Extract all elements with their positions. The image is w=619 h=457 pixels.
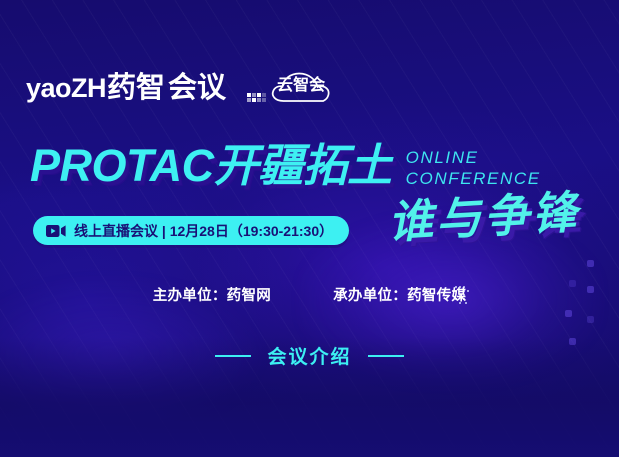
cloud-logo-label: 云智会 [277, 78, 325, 94]
heading-rule-right [368, 355, 404, 357]
section-heading-label: 会议介绍 [267, 342, 351, 369]
subtitle-line-2: CONFERENCE [406, 169, 541, 190]
live-session-badge[interactable]: 线上直播会议 | 12月28日（19:30-21:30） [33, 216, 349, 245]
yaozh-logo: yaoZH 药智 会议 [26, 74, 226, 103]
page-title: PROTAC开疆拓土 [30, 143, 392, 189]
conference-banner: yaoZH 药智 会议 云智会 PROTAC开疆拓土 ONLINE CONFER… [0, 0, 619, 457]
yunzhihui-logo: 云智会 [245, 67, 341, 109]
logo-suffix-text: 会议 [168, 74, 226, 103]
video-camera-icon [46, 224, 66, 238]
organizer-row: 主办单位：药智网 承办单位：药智传媒 [0, 284, 619, 305]
hero-subtitle-english: ONLINE CONFERENCE [406, 148, 541, 189]
co-organizer-organization: 承办单位：药智传媒 [333, 284, 466, 305]
brand-logo-row: yaoZH 药智 会议 云智会 [26, 64, 341, 112]
live-session-text: 线上直播会议 | 12月28日（19:30-21:30） [74, 221, 333, 241]
calligraphy-slogan: 谁与争锋 [387, 189, 581, 245]
heading-rule-left [215, 355, 251, 357]
host-organization: 主办单位：药智网 [153, 284, 271, 305]
section-heading: 会议介绍 [0, 342, 619, 369]
logo-latin-text: yaoZH [26, 75, 106, 102]
subtitle-line-1: ONLINE [406, 148, 541, 169]
hero-title-block: PROTAC开疆拓土 ONLINE CONFERENCE [30, 143, 541, 189]
logo-chinese-text: 药智 [107, 74, 165, 103]
